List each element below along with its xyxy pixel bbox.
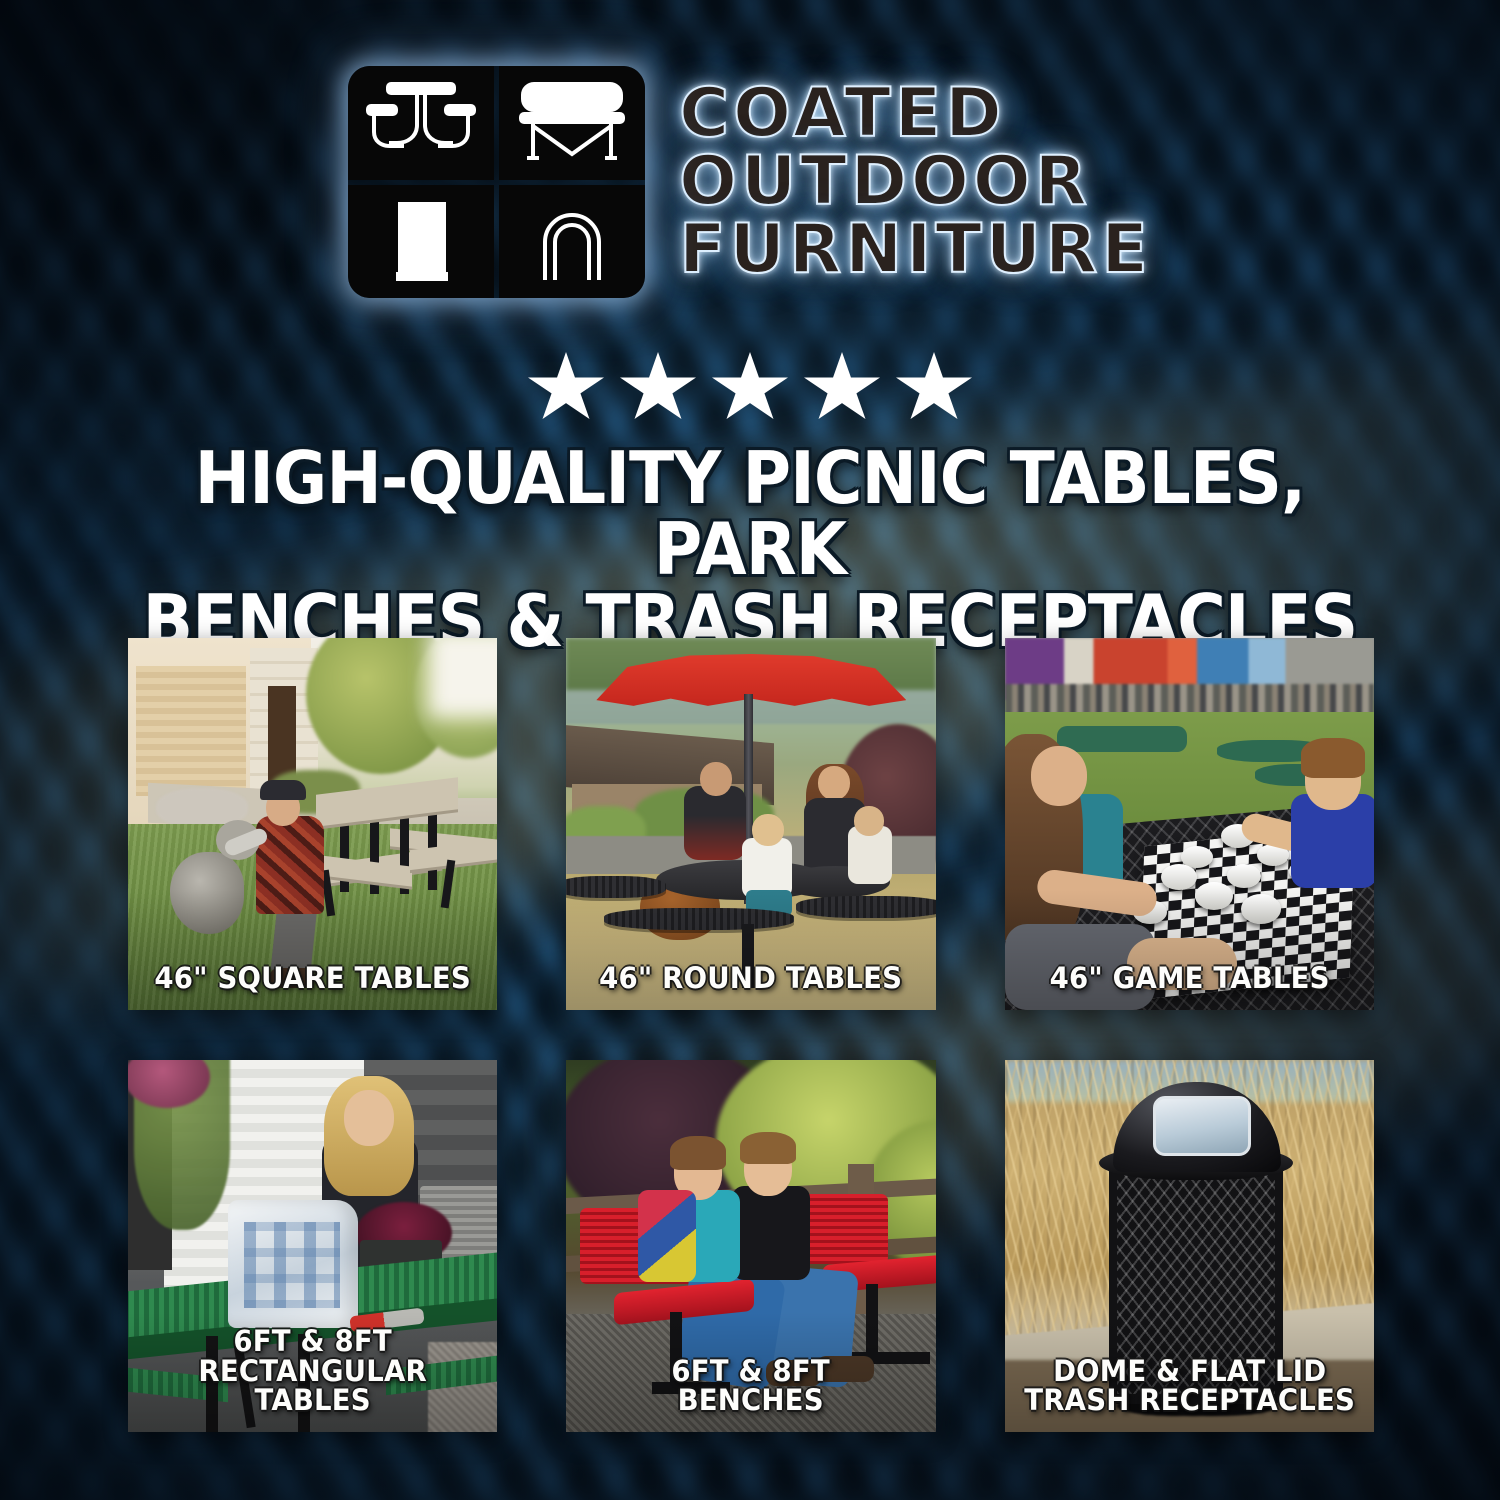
caption-line-2: BENCHES <box>581 1386 920 1416</box>
product-caption: 46" SQUARE TABLES <box>143 964 482 994</box>
caption-line-1: 46" SQUARE TABLES <box>143 964 482 994</box>
product-card-round-tables[interactable]: 46" ROUND TABLES <box>566 638 935 1010</box>
caption-line-1: 46" ROUND TABLES <box>581 964 920 994</box>
product-card-trash-receptacles[interactable]: DOME & FLAT LID TRASH RECEPTACLES <box>1005 1060 1374 1432</box>
caption-line-1: 46" GAME TABLES <box>1020 964 1359 994</box>
promo-poster: COATED OUTDOOR FURNITURE HIGH-QUALITY PI… <box>0 0 1500 1500</box>
caption-line-2: RECTANGULAR TABLES <box>143 1357 482 1416</box>
brand-wordmark: COATED OUTDOOR FURNITURE <box>679 81 1152 283</box>
headline-line-1: HIGH-QUALITY PICNIC TABLES, PARK <box>115 443 1385 586</box>
headline: HIGH-QUALITY PICNIC TABLES, PARK BENCHES… <box>115 443 1385 657</box>
product-card-rectangular-tables[interactable]: 6FT & 8FT RECTANGULAR TABLES <box>128 1060 497 1432</box>
product-photo-game-tables <box>1005 638 1374 1010</box>
bike-rack-arch-icon <box>499 185 645 299</box>
product-caption: 6FT & 8FT RECTANGULAR TABLES <box>143 1327 482 1416</box>
brand-logo: COATED OUTDOOR FURNITURE <box>0 66 1500 298</box>
product-card-game-tables[interactable]: 46" GAME TABLES <box>1005 638 1374 1010</box>
caption-line-2: TRASH RECEPTACLES <box>1020 1386 1359 1416</box>
star-icon <box>712 352 788 424</box>
logo-icon-grid <box>348 66 645 298</box>
star-icon <box>896 352 972 424</box>
product-caption: DOME & FLAT LID TRASH RECEPTACLES <box>1020 1357 1359 1416</box>
product-photo-round-tables <box>566 638 935 1010</box>
brand-line-3: FURNITURE <box>679 217 1152 283</box>
caption-line-1: 6FT & 8FT <box>143 1327 482 1357</box>
brand-line-2: OUTDOOR <box>679 149 1152 215</box>
caption-line-1: DOME & FLAT LID <box>1020 1357 1359 1387</box>
star-icon <box>620 352 696 424</box>
product-card-benches[interactable]: 6FT & 8FT BENCHES <box>566 1060 935 1432</box>
picnic-table-front-icon <box>348 66 494 180</box>
product-photo-square-tables <box>128 638 497 1010</box>
product-caption: 46" GAME TABLES <box>1020 964 1359 994</box>
star-rating <box>0 352 1500 424</box>
product-row-top: 46" SQUARE TABLES <box>128 638 1374 1010</box>
bench-side-icon <box>499 66 645 180</box>
product-caption: 6FT & 8FT BENCHES <box>581 1357 920 1416</box>
star-icon <box>528 352 604 424</box>
brand-line-1: COATED <box>679 81 1152 147</box>
product-card-square-tables[interactable]: 46" SQUARE TABLES <box>128 638 497 1010</box>
trash-receptacle-icon <box>348 185 494 299</box>
star-icon <box>804 352 880 424</box>
caption-line-1: 6FT & 8FT <box>581 1357 920 1387</box>
product-row-bottom: 6FT & 8FT RECTANGULAR TABLES <box>128 1060 1374 1432</box>
product-caption: 46" ROUND TABLES <box>581 964 920 994</box>
product-grid: 46" SQUARE TABLES <box>128 638 1374 1432</box>
